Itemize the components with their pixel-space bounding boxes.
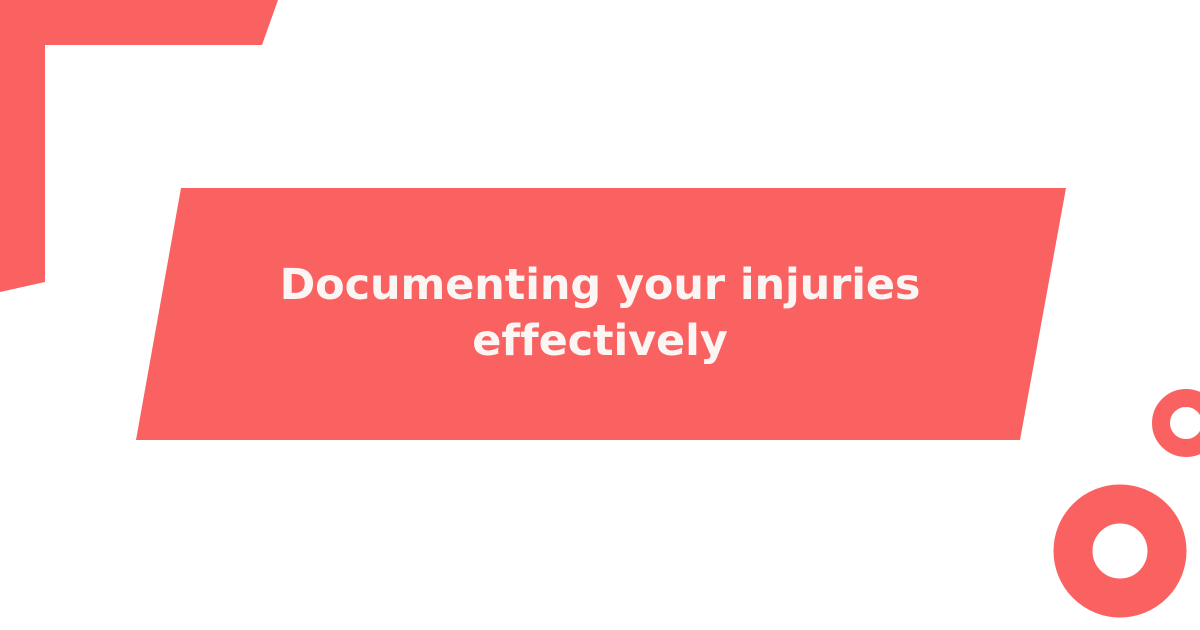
banner-canvas: Documenting your injuries effectively bbox=[0, 0, 1200, 630]
ring-large-shape bbox=[1073, 504, 1167, 598]
ring-small-shape bbox=[1161, 398, 1200, 448]
decorative-shape-layer bbox=[0, 0, 1200, 630]
banner-parallelogram-shape bbox=[136, 188, 1066, 440]
